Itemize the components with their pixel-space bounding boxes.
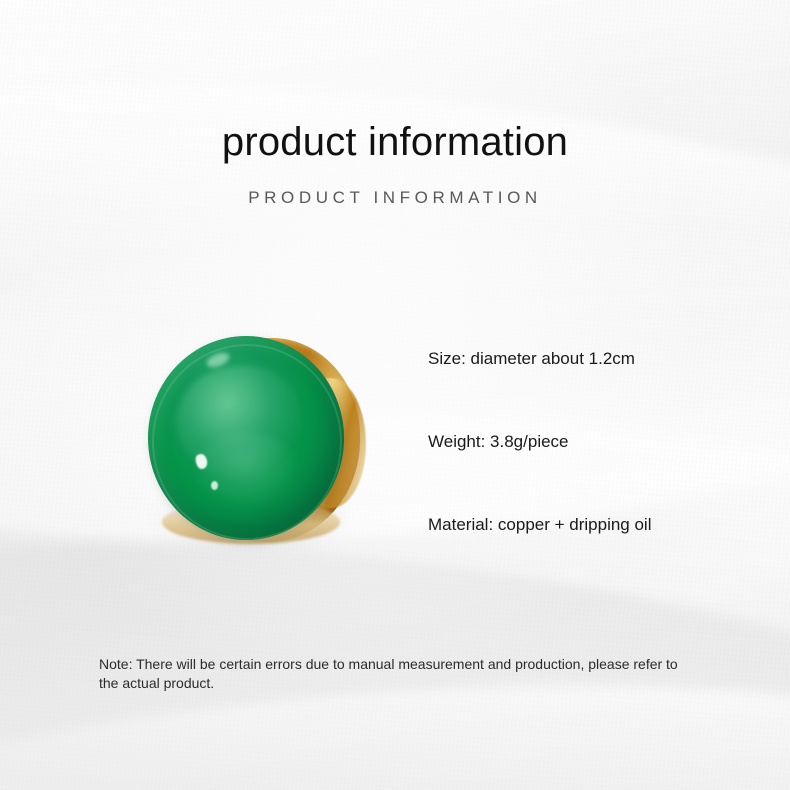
spec-size: Size: diameter about 1.2cm [428,348,748,370]
page-title: product information [0,120,790,165]
spec-weight: Weight: 3.8g/piece [428,431,748,453]
enamel-edge-light [152,344,342,540]
page-subtitle: PRODUCT INFORMATION [0,188,790,208]
green-enamel-dome [148,336,344,540]
disclaimer-note: Note: There will be certain errors due t… [99,655,699,694]
product-image [146,332,364,548]
spec-material: Material: copper + dripping oil [428,514,748,536]
product-information-page: product information PRODUCT INFORMATION … [0,0,790,790]
spec-list: Size: diameter about 1.2cm Weight: 3.8g/… [428,348,748,536]
